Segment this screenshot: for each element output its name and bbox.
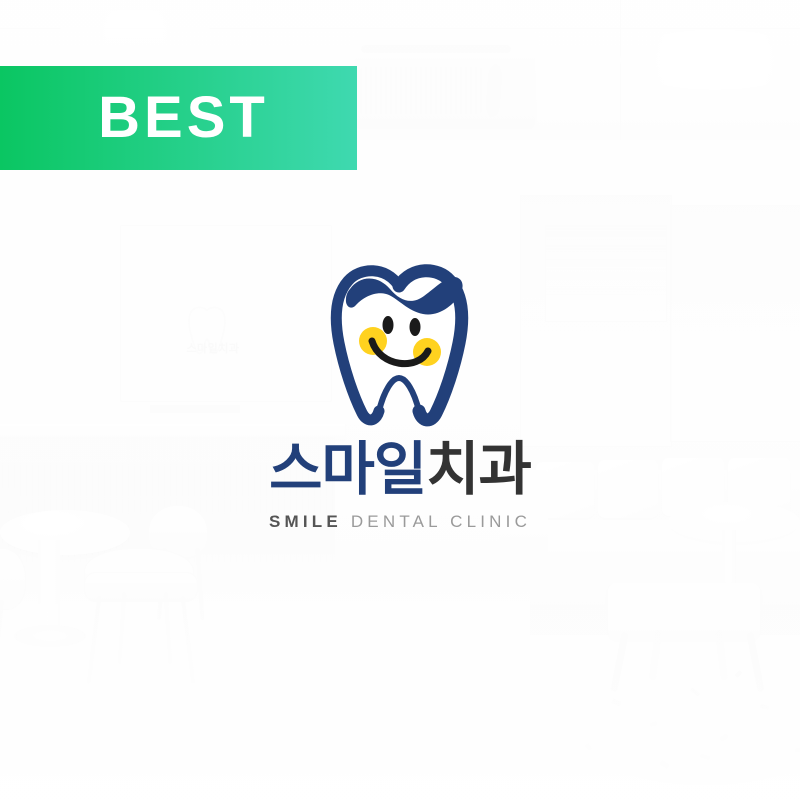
best-badge: BEST xyxy=(0,66,357,170)
air-conditioner-lip xyxy=(361,45,511,53)
clinic-logo-lockup: 스마일치과 SMILE DENTAL CLINIC xyxy=(0,255,800,532)
best-badge-label: BEST xyxy=(98,89,269,147)
chair-leg xyxy=(163,592,172,664)
ceiling-seam xyxy=(620,0,621,150)
chair-leg xyxy=(181,596,196,684)
clinic-subtitle-light: DENTAL CLINIC xyxy=(342,512,531,531)
clinic-name-korean-blue: 스마일 xyxy=(269,437,426,502)
left-eye xyxy=(383,316,394,334)
ottoman-top xyxy=(608,583,760,640)
right-eye xyxy=(410,318,421,336)
air-conditioner-grille xyxy=(360,67,482,114)
clinic-subtitle: SMILE DENTAL CLINIC xyxy=(269,512,531,532)
ceiling-light xyxy=(620,30,800,90)
ceiling-light xyxy=(60,10,210,50)
rug-fleck xyxy=(795,747,800,752)
clinic-subtitle-bold: SMILE xyxy=(269,512,342,531)
promo-card: 스마일치과 xyxy=(0,0,800,800)
chair-leg xyxy=(87,596,102,684)
terrazzo-rug xyxy=(560,645,800,785)
round-table-base xyxy=(14,625,86,647)
clinic-name-korean: 스마일치과 xyxy=(269,441,531,499)
clinic-name-korean-dark: 치과 xyxy=(426,437,531,502)
smiling-tooth-logo-icon xyxy=(320,255,480,433)
chair-leg xyxy=(0,600,4,680)
chair-leg xyxy=(117,592,126,664)
